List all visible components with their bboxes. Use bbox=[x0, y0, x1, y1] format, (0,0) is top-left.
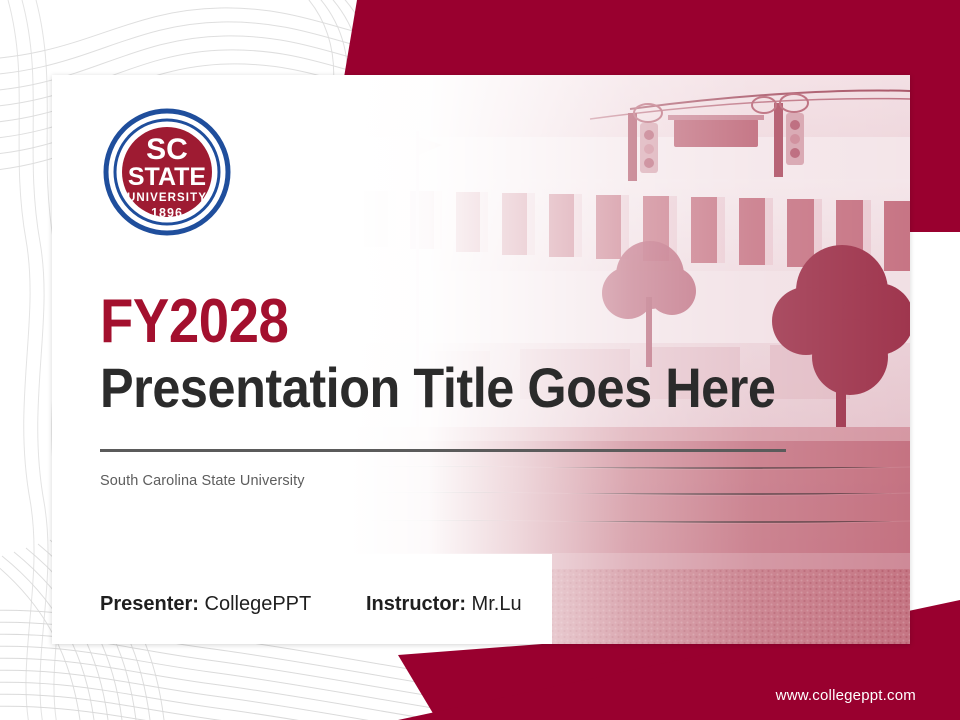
sc-state-university-seal-logo: SC STATE UNIVERSITY 1896 bbox=[102, 107, 232, 237]
seal-text-year: 1896 bbox=[151, 206, 183, 220]
title-divider bbox=[100, 449, 786, 452]
instructor-label: Instructor: bbox=[366, 593, 466, 615]
footer-website-url[interactable]: www.collegeppt.com bbox=[776, 687, 916, 704]
fiscal-year-label: FY2028 bbox=[100, 290, 769, 354]
presenter-instructor-row: Presenter: CollegePPT Instructor: Mr.Lu bbox=[100, 593, 522, 616]
presenter-value: CollegePPT bbox=[205, 593, 311, 615]
slide-content-card: SC STATE UNIVERSITY 1896 FY2028 Presenta… bbox=[52, 75, 910, 644]
subtitle-university-name: South Carolina State University bbox=[100, 473, 860, 489]
seal-text-university: UNIVERSITY bbox=[127, 192, 207, 204]
presenter-label: Presenter: bbox=[100, 593, 199, 615]
instructor-value: Mr.Lu bbox=[472, 593, 522, 615]
presentation-slide: SC STATE UNIVERSITY 1896 FY2028 Presenta… bbox=[0, 0, 960, 720]
seal-text-sc: SC bbox=[146, 133, 188, 166]
seal-text-state: STATE bbox=[128, 163, 206, 191]
page-title: Presentation Title Goes Here bbox=[100, 358, 784, 418]
title-block: FY2028 Presentation Title Goes Here Sout… bbox=[100, 290, 860, 489]
